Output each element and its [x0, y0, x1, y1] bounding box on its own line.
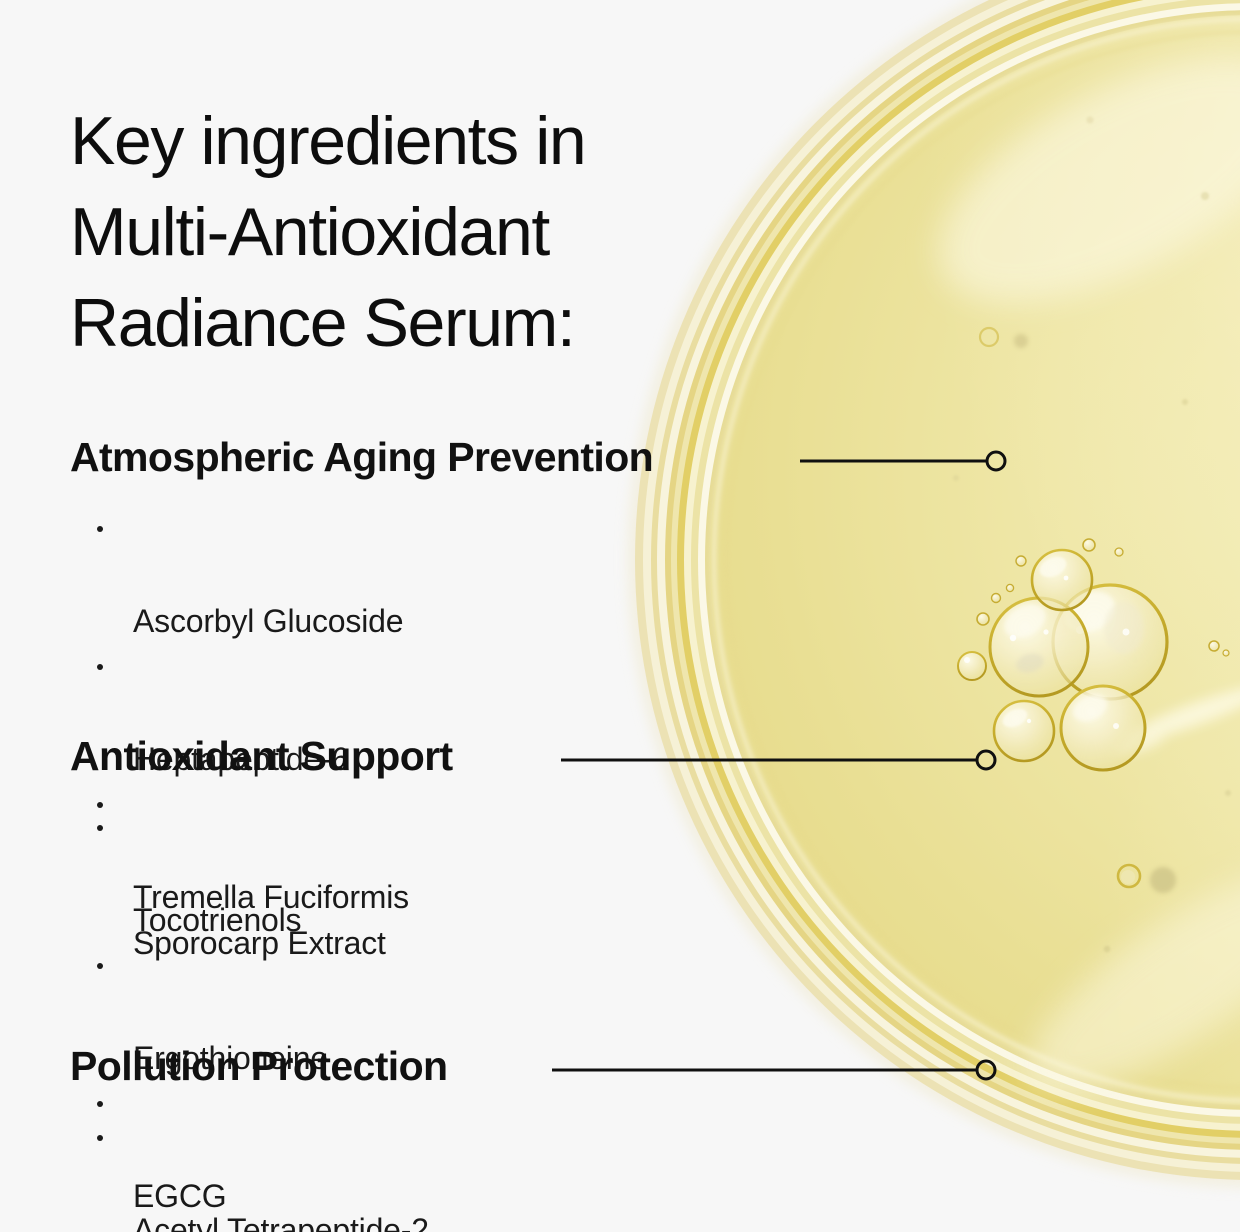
poster-canvas: Key ingredients in Multi-Antioxidant Rad…: [0, 0, 1240, 1232]
leader-endpoint-circle-icon: [977, 751, 995, 769]
leader-endpoint-circle-icon: [987, 452, 1005, 470]
leader-lines: [0, 0, 1240, 1232]
leader-endpoint-circle-icon: [977, 1061, 995, 1079]
